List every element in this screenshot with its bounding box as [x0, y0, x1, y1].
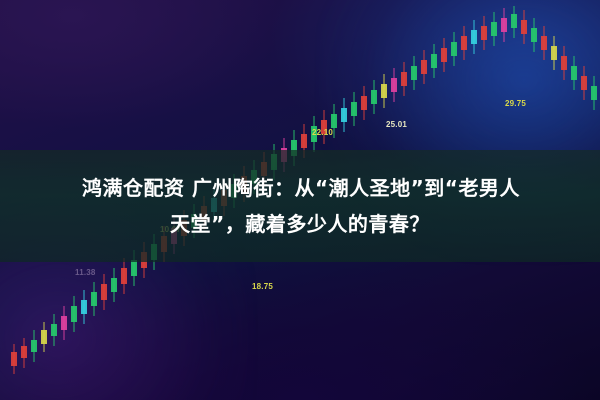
headline-text: 鸿满仓配资 广州陶街：从“潮人圣地”到“老男人 天堂”，藏着多少人的青春？ [0, 150, 600, 262]
price-label-1: 25.01 [386, 120, 407, 129]
price-label-3: 18.75 [252, 282, 273, 291]
image-canvas: 29.7525.0122.1018.7510.0711.38 鸿满仓配资 广州陶… [0, 0, 600, 400]
price-label-5: 11.38 [75, 268, 96, 277]
headline-line-2: 天堂”，藏着多少人的青春？ [170, 209, 430, 239]
price-label-0: 29.75 [505, 99, 526, 108]
price-label-2: 22.10 [312, 128, 333, 137]
headline-line-1: 鸿满仓配资 广州陶街：从“潮人圣地”到“老男人 [80, 173, 520, 203]
